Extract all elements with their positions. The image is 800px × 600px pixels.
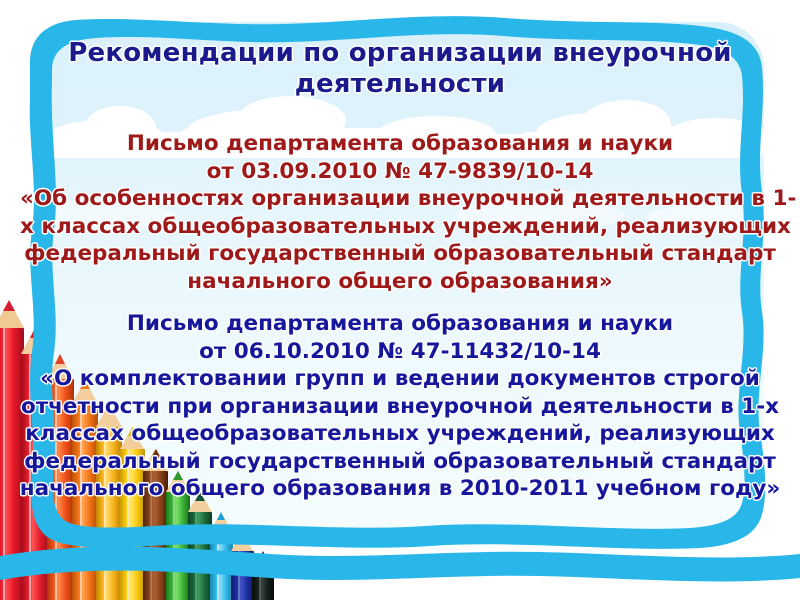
- letter-one-body-line-4: начального общего образования»: [20, 268, 780, 296]
- letter-one-body-line-2: х классах общеобразовательных учреждений…: [20, 213, 780, 241]
- letter-two-line-2: от 06.10.2010 № 47-11432/10-14: [18, 338, 782, 366]
- letter-two-body-line-1: «О комплектовании групп и ведении докуме…: [18, 365, 782, 393]
- letter-two-body-line-2: отчетности при организации внеурочной де…: [18, 393, 782, 421]
- letter-one-body-line-1: «Об особенностях организации внеурочной …: [20, 185, 780, 213]
- letter-one-body-line-3: федеральный государственный образователь…: [20, 240, 780, 268]
- slide-text-content: Рекомендации по организации внеурочной д…: [0, 0, 800, 600]
- page-title: Рекомендации по организации внеурочной д…: [60, 38, 740, 100]
- letter-one-line-2: от 03.09.2010 № 47-9839/10-14: [20, 158, 780, 186]
- letter-two-body-line-4: федеральный государственный образователь…: [18, 448, 782, 476]
- letter-one-block: Письмо департамента образования и науки …: [20, 130, 780, 295]
- letter-two-line-1: Письмо департамента образования и науки: [18, 310, 782, 338]
- title-line-2: деятельности: [60, 69, 740, 100]
- letter-two-block: Письмо департамента образования и науки …: [18, 310, 782, 503]
- title-line-1: Рекомендации по организации внеурочной: [60, 38, 740, 69]
- slide-canvas: Рекомендации по организации внеурочной д…: [0, 0, 800, 600]
- letter-one-line-1: Письмо департамента образования и науки: [20, 130, 780, 158]
- letter-two-body-line-3: классах общеобразовательных учреждений, …: [18, 420, 782, 448]
- letter-two-body-line-5: начального общего образования в 2010-201…: [18, 475, 782, 503]
